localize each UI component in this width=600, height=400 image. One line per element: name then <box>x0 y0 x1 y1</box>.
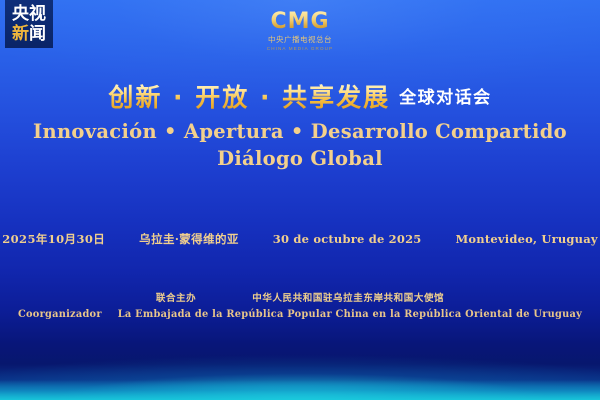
organizer-block: 联合主办 中华人民共和国驻乌拉圭东岸共和国大使馆 Coorganizador L… <box>0 290 600 320</box>
date-chinese: 2025年10月30日 <box>2 231 105 247</box>
cmg-chinese-name: 中央广播电视总台 <box>0 35 600 45</box>
bottom-cyan-glow <box>0 348 600 400</box>
chinese-title-sub: 全球对话会 <box>399 88 492 108</box>
spanish-title: Innovación • Apertura • Desarrollo Compa… <box>0 118 600 172</box>
organizer-chinese-row: 联合主办 中华人民共和国驻乌拉圭东岸共和国大使馆 <box>0 290 600 304</box>
organizer-label-chinese: 联合主办 <box>156 290 196 304</box>
chinese-title-main: 创新 · 开放 · 共享发展 <box>108 83 390 112</box>
chinese-title: 创新 · 开放 · 共享发展全球对话会 <box>0 78 600 114</box>
cmg-english-name: CHINA MEDIA GROUP <box>0 45 600 52</box>
broadcast-title-card: 央视 新闻 CMG 中央广播电视总台 CHINA MEDIA GROUP 创新 … <box>0 0 600 400</box>
location-spanish: Montevideo, Uruguay <box>455 232 597 246</box>
cmg-logo: CMG 中央广播电视总台 CHINA MEDIA GROUP <box>0 10 600 52</box>
location-chinese: 乌拉圭·蒙得维的亚 <box>139 231 239 247</box>
organizer-spanish-row: Coorganizador La Embajada de la Repúblic… <box>0 309 600 320</box>
cmg-wordmark: CMG <box>0 10 600 34</box>
organizer-label-spanish: Coorganizador <box>18 309 102 320</box>
spanish-title-line2: Diálogo Global <box>0 145 600 172</box>
date-spanish: 30 de octubre de 2025 <box>273 232 422 246</box>
spanish-title-line1: Innovación • Apertura • Desarrollo Compa… <box>0 118 600 145</box>
organizer-name-chinese: 中华人民共和国驻乌拉圭东岸共和国大使馆 <box>252 290 444 304</box>
date-location-row: 2025年10月30日 乌拉圭·蒙得维的亚 30 de octubre de 2… <box>0 231 600 247</box>
bottom-cyan-edge <box>0 380 600 400</box>
organizer-name-spanish: La Embajada de la República Popular Chin… <box>118 309 582 320</box>
